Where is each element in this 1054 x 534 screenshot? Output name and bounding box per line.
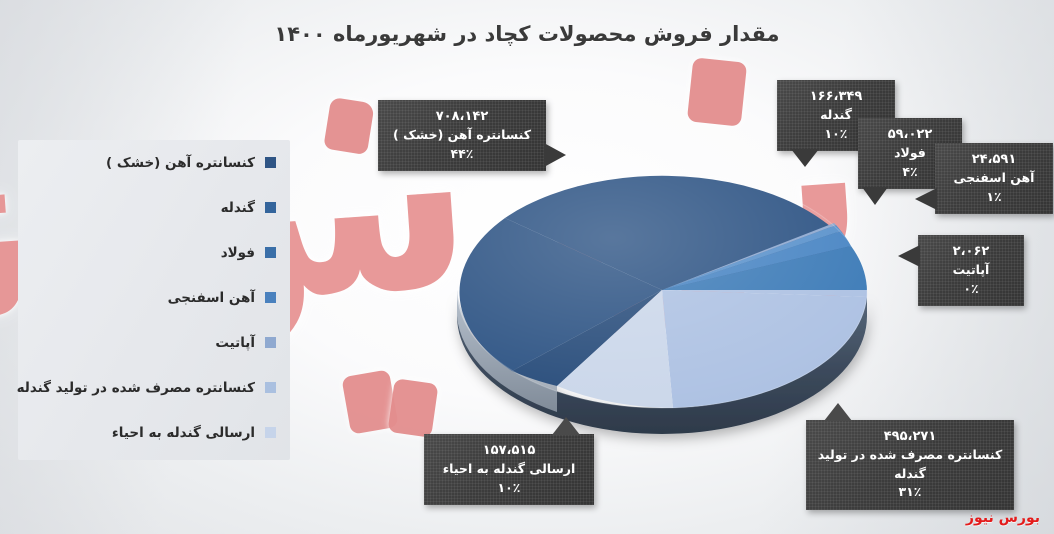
legend-label: ارسالی گندله به احیاء [112, 425, 255, 441]
legend-item-5[interactable]: کنسانتره مصرف شده در تولید گندله [18, 365, 290, 410]
callout-label: کنسانتره مصرف شده در تولید گندله [817, 446, 1003, 483]
callout-percent: ۱۰٪ [435, 479, 583, 498]
callout-tail [915, 188, 937, 210]
pie-slices [457, 172, 867, 408]
callout-tail [824, 403, 852, 421]
legend-label: فولاد [221, 245, 255, 261]
callout-apatit[interactable]: ۲،۰۶۲ آپاتیت ۰٪ [918, 235, 1024, 306]
brand-label: بورس نیوز [966, 510, 1040, 526]
callout-percent: ۳۱٪ [817, 483, 1003, 502]
legend-item-3[interactable]: آهن اسفنجی [18, 275, 290, 320]
callout-tail [552, 417, 580, 435]
callout-value: ۱۶۶،۳۴۹ [788, 87, 884, 106]
callout-label: ارسالی گندله به احیاء [435, 460, 583, 479]
legend-label: کنسانتره آهن (خشک ) [106, 155, 255, 171]
legend-swatch [265, 382, 276, 393]
callout-label: کنسانتره آهن (خشک ) [389, 126, 535, 145]
callout-tail [791, 149, 819, 167]
legend-item-4[interactable]: آپاتیت [18, 320, 290, 365]
legend-label: آپاتیت [215, 335, 255, 351]
chart-canvas: بورس نیوز مقدار فروش محصولات کچاد در شهر… [0, 0, 1054, 534]
legend-item-1[interactable]: گندله [18, 185, 290, 230]
callout-tail [898, 245, 920, 267]
legend-swatch [265, 337, 276, 348]
callout-value: ۵۹،۰۲۲ [869, 125, 951, 144]
chart-title: مقدار فروش محصولات کچاد در شهریورماه ۱۴۰… [0, 22, 1054, 46]
legend-swatch [265, 157, 276, 168]
callout-value: ۷۰۸،۱۴۲ [389, 107, 535, 126]
watermark-blob [323, 97, 375, 155]
pie-sheen [457, 172, 867, 408]
legend-label: گندله [221, 200, 255, 216]
callout-percent: ۰٪ [929, 280, 1013, 299]
watermark-blob [687, 57, 747, 126]
callout-konsantre-masrafi[interactable]: ۴۹۵،۲۷۱ کنسانتره مصرف شده در تولید گندله… [806, 420, 1014, 510]
callout-value: ۲۴،۵۹۱ [946, 150, 1042, 169]
legend-label: کنسانتره مصرف شده در تولید گندله [17, 380, 255, 396]
callout-label: آهن اسفنجی [946, 169, 1042, 188]
callout-tail [862, 187, 888, 205]
callout-value: ۲،۰۶۲ [929, 242, 1013, 261]
callout-value: ۱۵۷،۵۱۵ [435, 441, 583, 460]
callout-konsantre-khoshk[interactable]: ۷۰۸،۱۴۲ کنسانتره آهن (خشک ) ۴۴٪ [378, 100, 546, 171]
legend-item-2[interactable]: فولاد [18, 230, 290, 275]
callout-percent: ۴۴٪ [389, 145, 535, 164]
legend-swatch [265, 202, 276, 213]
callout-percent: ۱٪ [946, 188, 1042, 207]
legend-swatch [265, 247, 276, 258]
watermark-blob [387, 378, 438, 438]
watermark-blob [341, 369, 398, 434]
legend-label: آهن اسفنجی [168, 290, 255, 306]
legend-swatch [265, 292, 276, 303]
callout-ahan-esfanji[interactable]: ۲۴،۵۹۱ آهن اسفنجی ۱٪ [935, 143, 1053, 214]
callout-tail [544, 143, 566, 167]
callout-value: ۴۹۵،۲۷۱ [817, 427, 1003, 446]
legend-swatch [265, 427, 276, 438]
callout-ersali-gandoleh[interactable]: ۱۵۷،۵۱۵ ارسالی گندله به احیاء ۱۰٪ [424, 434, 594, 505]
chart-legend: کنسانتره آهن (خشک ) گندله فولاد آهن اسفن… [18, 140, 290, 460]
legend-item-0[interactable]: کنسانتره آهن (خشک ) [18, 140, 290, 185]
legend-item-6[interactable]: ارسالی گندله به احیاء [18, 410, 290, 455]
callout-label: آپاتیت [929, 261, 1013, 280]
